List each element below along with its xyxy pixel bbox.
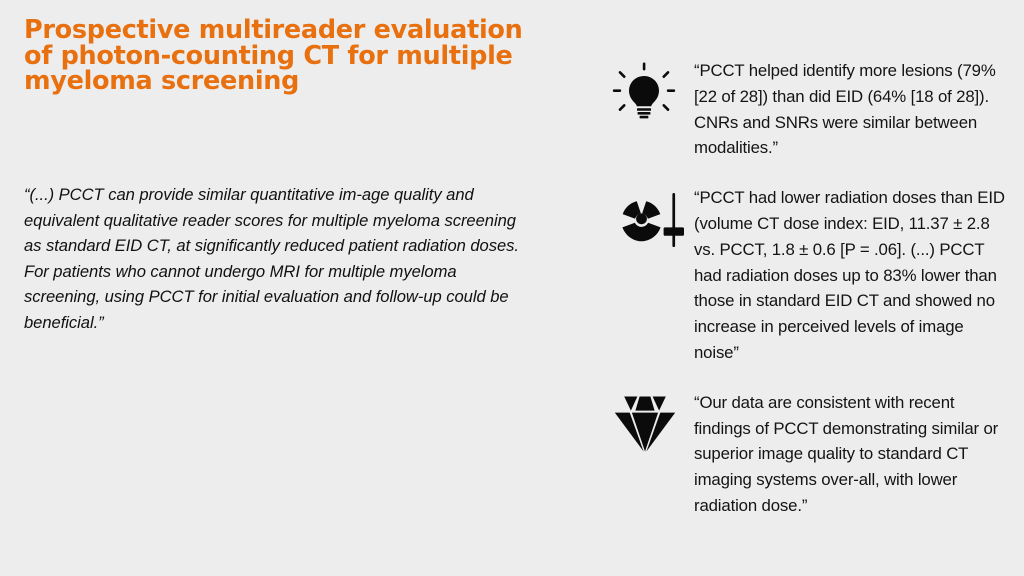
finding-text: “PCCT helped identify more lesions (79% …	[694, 58, 1008, 161]
finding-text: “PCCT had lower radiation doses than EID…	[694, 185, 1008, 366]
finding-item: “Our data are consistent with recent fin…	[608, 390, 1008, 519]
lightbulb-icon	[608, 58, 694, 126]
right-column: “PCCT helped identify more lesions (79% …	[608, 58, 1008, 519]
lead-quote-text: “(...) PCCT can provide similar quantita…	[24, 182, 524, 336]
radiation-dose-icon	[608, 185, 694, 251]
finding-text: “Our data are consistent with recent fin…	[694, 390, 1008, 519]
diamond-icon	[608, 390, 694, 454]
left-column: Prospective multireader evaluation of ph…	[24, 18, 554, 95]
finding-item: “PCCT had lower radiation doses than EID…	[608, 185, 1008, 366]
page-title: Prospective multireader evaluation of ph…	[24, 18, 554, 95]
finding-item: “PCCT helped identify more lesions (79% …	[608, 58, 1008, 161]
slide-root: Prospective multireader evaluation of ph…	[0, 0, 1024, 576]
